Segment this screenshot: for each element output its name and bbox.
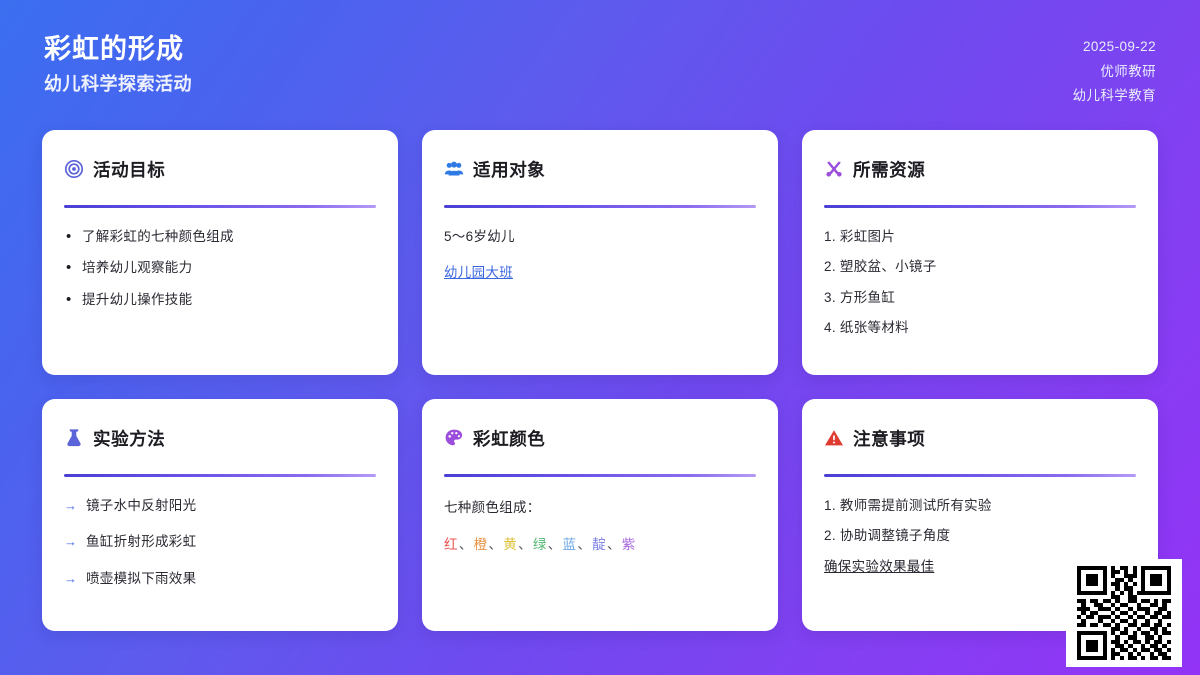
qr-code-modules: [1077, 566, 1171, 660]
rainbow-color-绿: 绿: [533, 533, 547, 553]
rainbow-color-蓝: 蓝: [563, 533, 577, 553]
meta-org: 优师教研: [1100, 62, 1156, 82]
card-target-audience: 适用对象 5～6岁幼儿 幼儿园大班: [422, 130, 778, 375]
palette-icon: [444, 428, 464, 448]
card-title: 适用对象: [473, 157, 545, 182]
rainbow-colors-row: 红、橙、黄、绿、蓝、靛、紫: [444, 533, 756, 553]
precautions-note: 确保实验效果最佳: [824, 557, 934, 577]
card-divider: [444, 474, 756, 477]
card-body: 了解彩虹的七种颜色组成 培养幼儿观察能力 提升幼儿操作技能: [64, 227, 376, 321]
card-body: 镜子水中反射阳光 鱼缸折射形成彩虹 喷壶模拟下雨效果: [64, 496, 376, 605]
card-header: 所需资源: [824, 156, 1136, 182]
card-body: 彩虹图片 塑胶盆、小镜子 方形鱼缸 纸张等材料: [824, 227, 1136, 348]
target-icon: [64, 159, 84, 179]
header-meta: 2025-09-22 优师教研 幼儿科学教育: [1073, 34, 1156, 106]
card-divider: [444, 205, 756, 208]
color-separator: 、: [577, 533, 591, 553]
color-separator: 、: [548, 533, 562, 553]
colors-label: 七种颜色组成：: [444, 496, 756, 516]
card-header: 彩虹颜色: [444, 425, 756, 451]
tools-icon: [824, 159, 844, 179]
header-titles: 彩虹的形成 幼儿科学探索活动: [44, 34, 192, 96]
cards-grid: 活动目标 了解彩虹的七种颜色组成 培养幼儿观察能力 提升幼儿操作技能: [0, 130, 1200, 631]
people-group-icon: [444, 159, 464, 179]
rainbow-color-紫: 紫: [622, 533, 636, 553]
list-item: 镜子水中反射阳光: [64, 496, 376, 516]
meta-date: 2025-09-22: [1083, 37, 1156, 57]
card-experiment-method: 实验方法 镜子水中反射阳光 鱼缸折射形成彩虹 喷壶模拟下雨效果: [42, 399, 398, 631]
list-item: 鱼缸折射形成彩虹: [64, 532, 376, 552]
list-item: 培养幼儿观察能力: [64, 258, 376, 278]
card-header: 活动目标: [64, 156, 376, 182]
card-divider: [824, 474, 1136, 477]
card-required-resources: 所需资源 彩虹图片 塑胶盆、小镜子 方形鱼缸 纸张等材料: [802, 130, 1158, 375]
rainbow-color-橙: 橙: [474, 533, 488, 553]
qr-code[interactable]: [1066, 559, 1182, 667]
card-title: 注意事项: [853, 426, 925, 451]
rainbow-color-黄: 黄: [503, 533, 517, 553]
list-item: 方形鱼缸: [824, 288, 1136, 308]
warning-triangle-icon: [824, 428, 844, 448]
audience-age: 5～6岁幼儿: [444, 227, 756, 247]
card-title: 彩虹颜色: [473, 426, 545, 451]
list-item: 彩虹图片: [824, 227, 1136, 247]
card-rainbow-colors: 彩虹颜色 七种颜色组成： 红、橙、黄、绿、蓝、靛、紫: [422, 399, 778, 631]
card-title: 实验方法: [93, 426, 165, 451]
rainbow-color-红: 红: [444, 533, 458, 553]
page-subtitle: 幼儿科学探索活动: [44, 74, 192, 96]
list-item: 纸张等材料: [824, 318, 1136, 338]
page-header: 彩虹的形成 幼儿科学探索活动 2025-09-22 优师教研 幼儿科学教育: [0, 0, 1200, 130]
flask-icon: [64, 428, 84, 448]
rainbow-color-靛: 靛: [592, 533, 606, 553]
color-separator: 、: [459, 533, 473, 553]
card-header: 适用对象: [444, 156, 756, 182]
goal-list: 了解彩虹的七种颜色组成 培养幼儿观察能力 提升幼儿操作技能: [64, 227, 376, 321]
card-divider: [64, 474, 376, 477]
list-item: 了解彩虹的七种颜色组成: [64, 227, 376, 247]
card-body: 七种颜色组成： 红、橙、黄、绿、蓝、靛、紫: [444, 496, 756, 553]
resources-list: 彩虹图片 塑胶盆、小镜子 方形鱼缸 纸张等材料: [824, 227, 1136, 348]
list-item: 协助调整镜子角度: [824, 526, 1136, 546]
method-list: 镜子水中反射阳光 鱼缸折射形成彩虹 喷壶模拟下雨效果: [64, 496, 376, 605]
card-divider: [64, 205, 376, 208]
card-body: 5～6岁幼儿 幼儿园大班: [444, 227, 756, 284]
color-separator: 、: [518, 533, 532, 553]
meta-category: 幼儿科学教育: [1073, 86, 1156, 106]
page-title: 彩虹的形成: [44, 34, 192, 65]
color-separator: 、: [607, 533, 621, 553]
audience-link[interactable]: 幼儿园大班: [444, 263, 513, 283]
list-item: 教师需提前测试所有实验: [824, 496, 1136, 516]
card-header: 注意事项: [824, 425, 1136, 451]
list-item: 塑胶盆、小镜子: [824, 257, 1136, 277]
card-header: 实验方法: [64, 425, 376, 451]
precautions-list: 教师需提前测试所有实验 协助调整镜子角度: [824, 496, 1136, 557]
list-item: 喷壶模拟下雨效果: [64, 569, 376, 589]
card-title: 活动目标: [93, 157, 165, 182]
color-separator: 、: [488, 533, 502, 553]
list-item: 提升幼儿操作技能: [64, 290, 376, 310]
card-activity-goal: 活动目标 了解彩虹的七种颜色组成 培养幼儿观察能力 提升幼儿操作技能: [42, 130, 398, 375]
card-title: 所需资源: [853, 157, 925, 182]
card-divider: [824, 205, 1136, 208]
